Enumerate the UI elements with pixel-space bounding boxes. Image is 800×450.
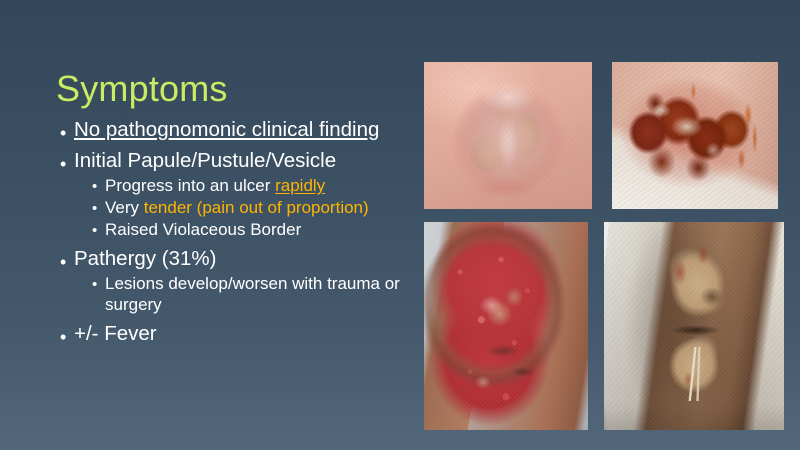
list-item-text-highlight: tender (pain out of proportion) (144, 198, 369, 217)
bullet-dot-icon: • (92, 273, 105, 292)
list-item-pathergy: • Pathergy (31%) (60, 247, 400, 271)
photo-grain-layer (612, 62, 778, 209)
list-item-no-pathognomonic-finding: • No pathognomonic clinical finding (60, 118, 400, 142)
list-item-label: No pathognomonic clinical finding (74, 118, 400, 142)
clinical-photo-top-left (424, 62, 592, 209)
list-item-label: Initial Papule/Pustule/Vesicle (74, 149, 400, 173)
list-item-very-tender: • Very tender (pain out of proportion) (92, 197, 400, 218)
bullet-dot-icon: • (92, 219, 105, 238)
photo-grain-layer (604, 222, 784, 430)
list-item-text-plain: Very (105, 198, 144, 217)
list-item-fever: • +/- Fever (60, 322, 400, 346)
list-item-label: Progress into an ulcer rapidly (105, 175, 400, 196)
presentation-slide: Symptoms • No pathognomonic clinical fin… (0, 0, 800, 450)
bullet-dot-icon: • (60, 322, 74, 346)
list-item-label: Very tender (pain out of proportion) (105, 197, 400, 218)
symptom-bullet-list: • No pathognomonic clinical finding • In… (60, 118, 400, 348)
list-item-initial-lesion: • Initial Papule/Pustule/Vesicle (60, 149, 400, 173)
list-item-label: Raised Violaceous Border (105, 219, 400, 240)
photo-sheen-layer (424, 222, 588, 430)
list-item-label: Pathergy (31%) (74, 247, 400, 271)
list-item-label: +/- Fever (74, 322, 400, 346)
clinical-photo-top-right (612, 62, 778, 209)
photo-grain-layer (424, 62, 592, 209)
bullet-dot-icon: • (60, 118, 74, 142)
bullet-dot-icon: • (60, 149, 74, 173)
list-item-raised-violaceous-border: • Raised Violaceous Border (92, 219, 400, 240)
bullet-dot-icon: • (92, 175, 105, 194)
list-item-label: Lesions develop/worsen with trauma or su… (105, 273, 400, 315)
clinical-photo-bottom-left (424, 222, 588, 430)
list-item-text-highlight: rapidly (275, 176, 325, 195)
bullet-dot-icon: • (60, 247, 74, 271)
list-item-lesions-develop-with-trauma: • Lesions develop/worsen with trauma or … (92, 273, 400, 315)
bullet-dot-icon: • (92, 197, 105, 216)
list-item-text-plain: Progress into an ulcer (105, 176, 275, 195)
clinical-photo-bottom-right (604, 222, 784, 430)
page-title: Symptoms (56, 68, 228, 110)
list-item-progress-into-ulcer: • Progress into an ulcer rapidly (92, 175, 400, 196)
